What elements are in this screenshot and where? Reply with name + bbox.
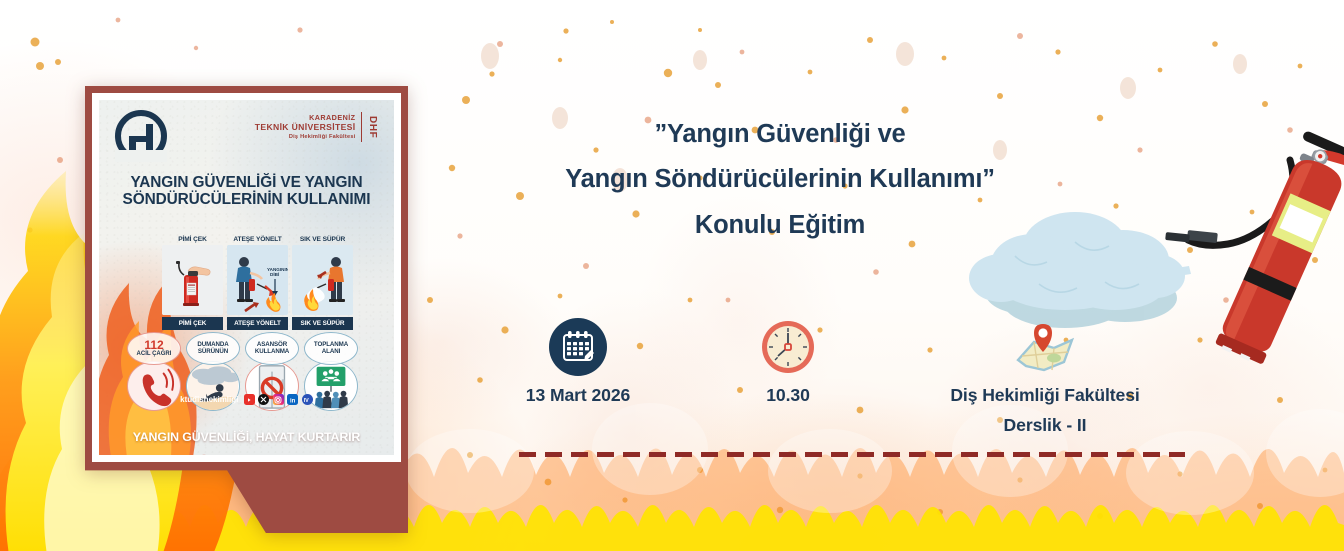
event-date-label: 13 Mart 2026: [478, 384, 678, 408]
poster-meta-row: 10.30 DERSLİK II: [99, 452, 394, 455]
sweep-illustration: [292, 245, 353, 315]
tv-icon[interactable]: IV: [302, 394, 313, 405]
announcement-banner: KARADENİZ TEKNİK ÜNİVERSİTESİ Diş Hekiml…: [0, 0, 1344, 551]
panel-footer: SIK VE SÜPÜR: [292, 317, 353, 330]
divider: [361, 112, 363, 142]
headline-line-1: ”Yangın Güvenliği ve: [430, 112, 1130, 157]
poster-social-row: ktudishekimligi in IV: [99, 394, 394, 405]
panel-footer: PİMİ ÇEK: [162, 317, 223, 330]
event-date: 13 Mart 2026: [478, 316, 678, 408]
badge-label-line2: SÜRÜNÜN: [198, 349, 228, 356]
faculty-abbreviation: DHF: [367, 116, 378, 138]
faculty-line: Diş Hekimliği Fakültesi: [255, 134, 356, 141]
event-time-label: 10.30: [698, 384, 878, 408]
classroom-icon: [242, 452, 300, 455]
x-twitter-icon[interactable]: [258, 394, 269, 405]
poster-meta-time: 10.30: [192, 452, 216, 455]
instagram-icon[interactable]: [273, 394, 284, 405]
event-time: 10.30: [698, 316, 878, 408]
poster-meta-room: DERSLİK II: [242, 452, 300, 455]
social-handle: ktudishekimligi: [180, 395, 238, 404]
panel-heading: ATEŞE YÖNELT: [227, 236, 288, 243]
badge-number: 112: [144, 339, 163, 351]
aim-at-fire-illustration: YANGININ DİBİ: [227, 245, 288, 315]
poster-title: YANGIN GÜVENLİĞİ VE YANGIN SÖNDÜRÜCÜLERİ…: [108, 174, 385, 209]
event-poster: KARADENİZ TEKNİK ÜNİVERSİTESİ Diş Hekiml…: [85, 86, 408, 533]
dashed-divider: [519, 452, 1185, 457]
instruction-panel: ATEŞE YÖNELT: [227, 236, 288, 330]
pull-pin-illustration: [162, 245, 223, 315]
poster-slogan: YANGIN GÜVENLİĞİ, HAYAT KURTARIR: [99, 430, 394, 444]
youtube-icon[interactable]: [244, 394, 255, 405]
svg-text:DİBİ: DİBİ: [270, 271, 279, 277]
event-location-line2: Derslik - II: [880, 414, 1210, 438]
badge-label: ACİL ÇAĞRI: [137, 351, 172, 357]
poster-content: KARADENİZ TEKNİK ÜNİVERSİTESİ Diş Hekiml…: [99, 100, 394, 455]
svg-text:in: in: [290, 398, 296, 404]
clock-icon: [192, 452, 216, 455]
instruction-panels: PİMİ ÇEK: [162, 236, 353, 330]
event-details-row: 13 Mart 2026 10.30: [440, 316, 1220, 436]
badge-label-line2: KULLANMA: [255, 349, 289, 356]
event-location: Diş Hekimliği Fakültesi Derslik - II: [880, 316, 1210, 437]
linkedin-icon[interactable]: in: [287, 394, 298, 405]
poster-title-line1: YANGIN GÜVENLİĞİ VE YANGIN: [108, 174, 385, 191]
panel-footer: ATEŞE YÖNELT: [227, 317, 288, 330]
instruction-panel: SIK VE SÜPÜR: [292, 236, 353, 330]
event-location-line1: Diş Hekimliği Fakültesi: [880, 384, 1210, 408]
calendar-icon: [478, 316, 678, 378]
poster-university-block: KARADENİZ TEKNİK ÜNİVERSİTESİ Diş Hekiml…: [255, 112, 378, 142]
university-line2: TEKNİK ÜNİVERSİTESİ: [255, 122, 356, 132]
svg-text:IV: IV: [304, 398, 309, 404]
panel-heading: SIK VE SÜPÜR: [292, 236, 353, 243]
clock-icon: [698, 316, 878, 378]
university-line1: KARADENİZ: [255, 114, 356, 122]
poster-title-line2: SÖNDÜRÜCÜLERİNİN KULLANIMI: [108, 191, 385, 208]
panel-heading: PİMİ ÇEK: [162, 236, 223, 243]
headline-line-2: Yangın Söndürücülerinin Kullanımı”: [430, 157, 1130, 202]
map-pin-icon: [880, 316, 1210, 378]
instruction-panel: PİMİ ÇEK: [162, 236, 223, 330]
badge-label-line2: ALANI: [322, 349, 340, 356]
fire-extinguisher-illustration: [1215, 130, 1344, 390]
ktu-logo: [115, 110, 167, 162]
